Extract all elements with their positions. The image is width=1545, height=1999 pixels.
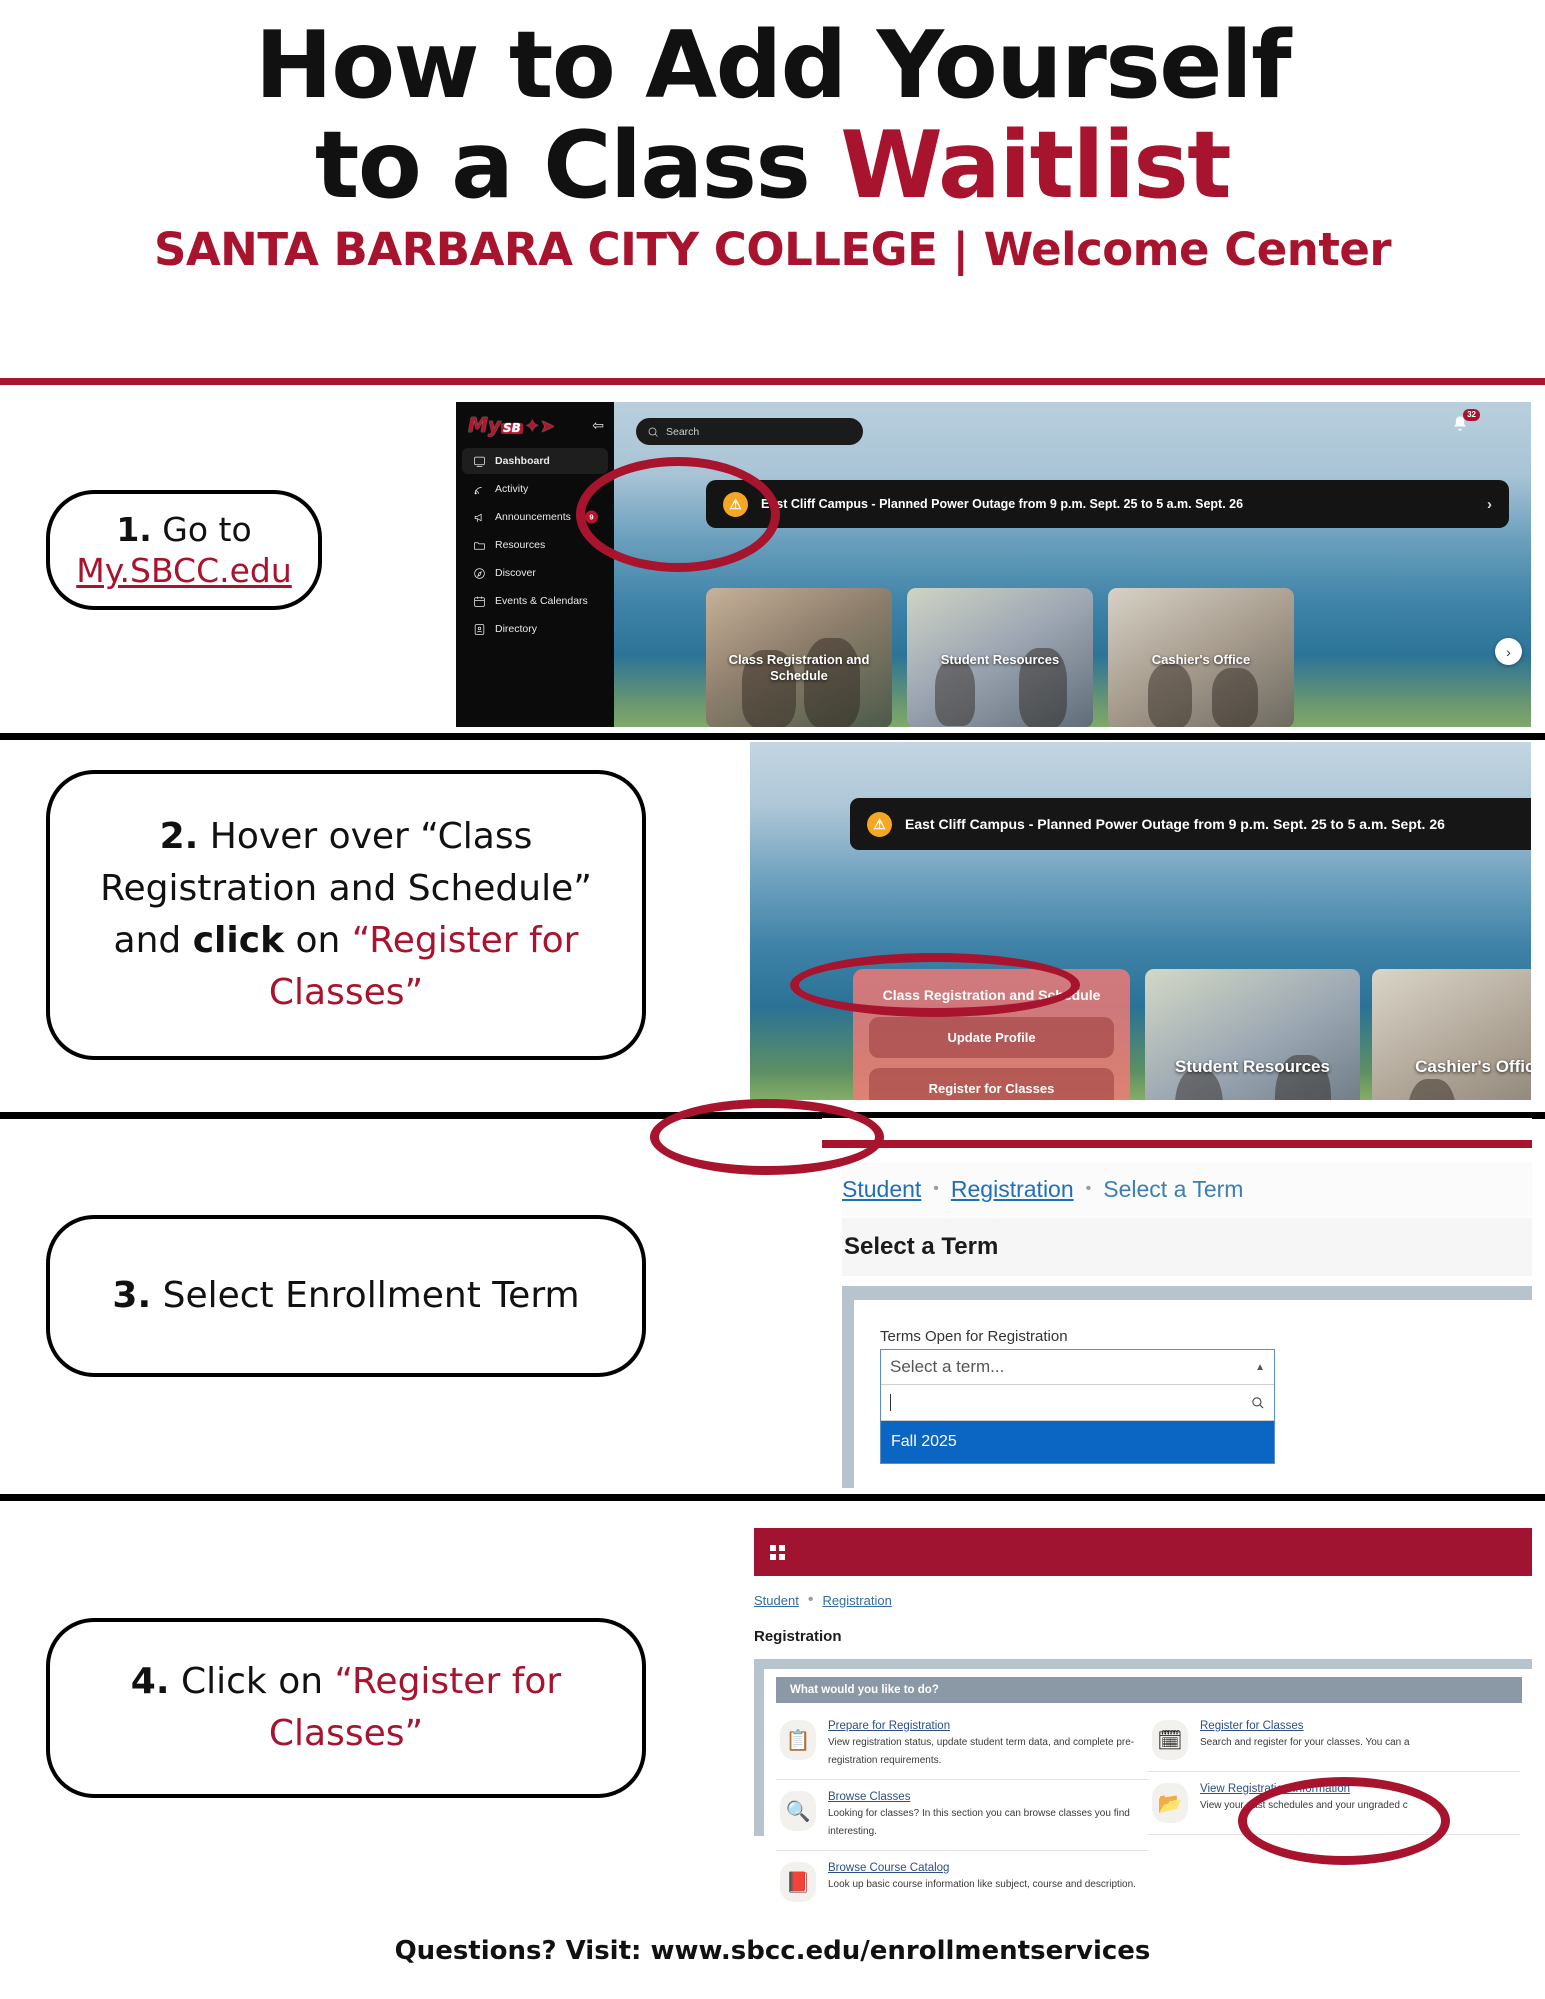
step-4-part1: Click on bbox=[170, 1661, 335, 1702]
breadcrumb-current: Select a Term bbox=[1103, 1176, 1243, 1203]
document-search-icon: 🔍 bbox=[780, 1791, 816, 1831]
action-desc: Looking for classes? In this section you… bbox=[828, 1808, 1130, 1837]
dashboard-hover-state: ⚠ East Cliff Campus - Planned Power Outa… bbox=[750, 742, 1531, 1100]
content-card: What would you like to do? 📋 Prepare for… bbox=[764, 1669, 1532, 1836]
action-browse-course-catalog[interactable]: 📕 Browse Course Catalog Look up basic co… bbox=[776, 1851, 1148, 1906]
tile-label: Student Resources bbox=[1145, 1057, 1360, 1077]
search-placeholder: Search bbox=[666, 426, 699, 438]
contact-card-icon bbox=[472, 622, 486, 636]
callout-step-1: 1. Go to My.SBCC.edu bbox=[46, 490, 322, 610]
sidebar-item-announcements[interactable]: Announcements 9 bbox=[462, 504, 608, 530]
tile-student-resources[interactable]: Student Resources bbox=[907, 588, 1093, 727]
callout-step-2: 2. Hover over “Class Registration and Sc… bbox=[46, 770, 646, 1060]
sidebar-label: Dashboard bbox=[495, 455, 550, 467]
tile-class-registration[interactable]: Class Registration and Schedule bbox=[706, 588, 892, 727]
screenshot-step-3: Student • Registration • Select a Term S… bbox=[822, 1118, 1532, 1488]
search-icon bbox=[647, 426, 659, 438]
sidebar-label: Directory bbox=[495, 623, 537, 635]
action-title[interactable]: Prepare for Registration bbox=[828, 1720, 1144, 1732]
sidebar-label: Events & Calendars bbox=[495, 595, 588, 607]
dashboard-main: Search 32 ⚠ East Cliff Campus - Planned … bbox=[614, 402, 1531, 727]
logo-my: My bbox=[468, 413, 501, 437]
title-accent-waitlist: Waitlist bbox=[840, 111, 1230, 219]
chevron-up-icon[interactable]: ▲ bbox=[1255, 1362, 1265, 1373]
breadcrumb-registration[interactable]: Registration bbox=[822, 1593, 891, 1608]
tile-label: Class Registration and Schedule bbox=[706, 652, 892, 683]
hover-menu-title: Class Registration and Schedule bbox=[869, 987, 1114, 1003]
action-title[interactable]: Browse Course Catalog bbox=[828, 1862, 1136, 1874]
title-line-1: How to Add Yourself bbox=[0, 16, 1545, 116]
step-2-number: 2. bbox=[160, 816, 199, 857]
breadcrumb-student[interactable]: Student bbox=[842, 1176, 921, 1203]
action-title[interactable]: View Registration Information bbox=[1200, 1783, 1408, 1795]
logo-sb: SB bbox=[501, 423, 523, 434]
sidebar-item-discover[interactable]: Discover bbox=[462, 560, 608, 586]
dashboard-icon bbox=[472, 454, 486, 468]
calendar-pencil-icon: 🗓 bbox=[1152, 1720, 1188, 1760]
banner-app-bar bbox=[754, 1528, 1532, 1576]
action-register-for-classes[interactable]: 🗓 Register for Classes Search and regist… bbox=[1148, 1709, 1520, 1772]
announcements-badge: 9 bbox=[585, 511, 598, 524]
term-select-placeholder: Select a term... bbox=[890, 1357, 1004, 1377]
action-title[interactable]: Register for Classes bbox=[1200, 1720, 1410, 1732]
alert-banner[interactable]: ⚠ East Cliff Campus - Planned Power Outa… bbox=[706, 480, 1509, 528]
step-divider-1 bbox=[0, 733, 1545, 740]
sidebar: MySB✦➤ ⇦ Dashboard Activity Announcement… bbox=[456, 402, 614, 727]
tile-carousel: Class Registration and Schedule Student … bbox=[706, 588, 1531, 727]
banner-top-bar bbox=[822, 1140, 1532, 1148]
carousel-next-button[interactable]: › bbox=[1495, 638, 1522, 665]
screenshot-step-2: ⚠ East Cliff Campus - Planned Power Outa… bbox=[750, 742, 1531, 1100]
term-search-input[interactable] bbox=[881, 1385, 1274, 1421]
app-grid-icon[interactable] bbox=[770, 1545, 785, 1560]
content-card: Terms Open for Registration Select a ter… bbox=[854, 1300, 1532, 1488]
action-view-registration-information[interactable]: 📂 View Registration Information View you… bbox=[1148, 1772, 1520, 1835]
tile-cashiers-office[interactable]: Cashier's Office bbox=[1108, 588, 1294, 727]
megaphone-icon bbox=[472, 510, 486, 524]
callout-step-4: 4. Click on “Register for Classes” bbox=[46, 1618, 646, 1798]
footer-text: Questions? Visit: www.sbcc.edu/enrollmen… bbox=[0, 1936, 1545, 1966]
activity-icon bbox=[472, 482, 486, 496]
breadcrumb-registration[interactable]: Registration bbox=[951, 1176, 1074, 1203]
content-area: What would you like to do? 📋 Prepare for… bbox=[754, 1659, 1532, 1836]
step-1-link[interactable]: My.SBCC.edu bbox=[76, 551, 292, 590]
magnifier-icon bbox=[1250, 1395, 1265, 1410]
calendar-icon bbox=[472, 594, 486, 608]
breadcrumb: Student • Registration bbox=[754, 1581, 1532, 1619]
step-divider-3 bbox=[0, 1494, 1545, 1501]
alert-banner[interactable]: ⚠ East Cliff Campus - Planned Power Outa… bbox=[850, 798, 1531, 850]
poster-root: How to Add Yourself to a Class Waitlist … bbox=[0, 0, 1545, 1999]
action-column-right: 🗓 Register for Classes Search and regist… bbox=[1148, 1709, 1520, 1906]
tile-label: Cashier's Office bbox=[1372, 1057, 1531, 1077]
page-heading: Select a Term bbox=[842, 1218, 1532, 1276]
screenshot-step-1: MySB✦➤ ⇦ Dashboard Activity Announcement… bbox=[456, 402, 1531, 727]
alert-text: East Cliff Campus - Planned Power Outage… bbox=[905, 816, 1445, 832]
tile-carousel: Student Resources Cashier's Office bbox=[1145, 969, 1531, 1100]
breadcrumb: Student • Registration • Select a Term bbox=[842, 1162, 1532, 1216]
sidebar-item-activity[interactable]: Activity bbox=[462, 476, 608, 502]
step-4-number: 4. bbox=[131, 1661, 170, 1702]
warning-triangle-icon: ⚠ bbox=[723, 492, 748, 517]
action-desc: Look up basic course information like su… bbox=[828, 1879, 1136, 1890]
action-title[interactable]: Browse Classes bbox=[828, 1791, 1144, 1803]
sidebar-item-dashboard[interactable]: Dashboard bbox=[462, 448, 608, 474]
action-desc: View your past schedules and your ungrad… bbox=[1200, 1800, 1408, 1811]
title-line-2: to a Class Waitlist bbox=[0, 116, 1545, 216]
alert-text: East Cliff Campus - Planned Power Outage… bbox=[761, 497, 1243, 511]
section-heading: What would you like to do? bbox=[776, 1677, 1522, 1703]
screenshot-step-4: Student • Registration Registration What… bbox=[722, 1503, 1532, 1906]
terms-field-label: Terms Open for Registration bbox=[880, 1328, 1532, 1345]
step-3-number: 3. bbox=[112, 1275, 151, 1316]
term-select-value[interactable]: Select a term... ▲ bbox=[881, 1350, 1274, 1385]
tile-cashiers-office[interactable]: Cashier's Office bbox=[1372, 969, 1531, 1100]
warning-triangle-icon: ⚠ bbox=[867, 812, 892, 837]
action-desc: Search and register for your classes. Yo… bbox=[1200, 1737, 1410, 1748]
term-option-fall-2025[interactable]: Fall 2025 bbox=[881, 1421, 1274, 1463]
action-prepare-for-registration[interactable]: 📋 Prepare for Registration View registra… bbox=[776, 1709, 1148, 1780]
yellow-folder-icon: 📂 bbox=[1152, 1783, 1188, 1823]
sidebar-header: MySB✦➤ ⇦ bbox=[456, 410, 614, 447]
step-3-text: Select Enrollment Term bbox=[151, 1275, 579, 1316]
book-search-icon: 📕 bbox=[780, 1862, 816, 1902]
tile-label: Cashier's Office bbox=[1108, 652, 1294, 668]
breadcrumb-separator: • bbox=[933, 1180, 939, 1198]
tile-label: Student Resources bbox=[907, 652, 1093, 668]
term-select[interactable]: Select a term... ▲ Fall 2025 bbox=[880, 1349, 1275, 1464]
mysbcc-dashboard: MySB✦➤ ⇦ Dashboard Activity Announcement… bbox=[456, 402, 1531, 727]
hover-menu-class-registration: Class Registration and Schedule Update P… bbox=[853, 969, 1130, 1100]
content-area: Terms Open for Registration Select a ter… bbox=[842, 1286, 1532, 1488]
step-2-part2: on bbox=[284, 920, 352, 961]
sidebar-item-events[interactable]: Events & Calendars bbox=[462, 588, 608, 614]
page-heading: Registration bbox=[754, 1616, 1532, 1656]
action-column-left: 📋 Prepare for Registration View registra… bbox=[776, 1709, 1148, 1906]
breadcrumb-separator: • bbox=[808, 1591, 814, 1609]
sidebar-item-directory[interactable]: Directory bbox=[462, 616, 608, 642]
step-2-bold: click bbox=[193, 920, 284, 961]
notifications-bell[interactable]: 32 bbox=[1450, 414, 1476, 440]
action-desc: View registration status, update student… bbox=[828, 1737, 1134, 1766]
mysbcc-logo: MySB✦➤ bbox=[468, 416, 555, 435]
step-1-text: Go to bbox=[152, 510, 252, 549]
chevron-right-icon[interactable]: › bbox=[1487, 496, 1492, 513]
logo-swoosh-icon: ✦➤ bbox=[525, 416, 555, 437]
page-title: How to Add Yourself to a Class Waitlist bbox=[0, 16, 1545, 215]
clipboard-icon: 📋 bbox=[780, 1720, 816, 1760]
page-subtitle: SANTA BARBARA CITY COLLEGE | Welcome Cen… bbox=[0, 223, 1545, 276]
title-line-2-plain: to a Class bbox=[315, 111, 840, 219]
text-cursor bbox=[890, 1394, 891, 1411]
sidebar-label: Discover bbox=[495, 567, 536, 579]
sidebar-label: Announcements bbox=[495, 511, 571, 523]
hover-menu-item-update-profile[interactable]: Update Profile bbox=[869, 1017, 1114, 1058]
action-browse-classes[interactable]: 🔍 Browse Classes Looking for classes? In… bbox=[776, 1780, 1148, 1851]
step-1-number: 1. bbox=[116, 510, 152, 549]
bell-badge: 32 bbox=[1463, 409, 1480, 421]
header-divider-red bbox=[0, 378, 1545, 385]
hover-menu-item-register-for-classes[interactable]: Register for Classes bbox=[869, 1068, 1114, 1100]
search-input[interactable]: Search bbox=[636, 418, 863, 445]
sidebar-label: Activity bbox=[495, 483, 528, 495]
poster-header: How to Add Yourself to a Class Waitlist … bbox=[0, 0, 1545, 276]
folder-icon bbox=[472, 538, 486, 552]
sidebar-label: Resources bbox=[495, 539, 545, 551]
action-grid: 📋 Prepare for Registration View registra… bbox=[764, 1709, 1532, 1906]
breadcrumb-student[interactable]: Student bbox=[754, 1593, 799, 1608]
sidebar-item-resources[interactable]: Resources bbox=[462, 532, 608, 558]
callout-step-3: 3. Select Enrollment Term bbox=[46, 1215, 646, 1377]
breadcrumb-separator: • bbox=[1086, 1180, 1092, 1198]
compass-icon bbox=[472, 566, 486, 580]
tile-student-resources[interactable]: Student Resources bbox=[1145, 969, 1360, 1100]
collapse-sidebar-icon[interactable]: ⇦ bbox=[592, 417, 604, 434]
